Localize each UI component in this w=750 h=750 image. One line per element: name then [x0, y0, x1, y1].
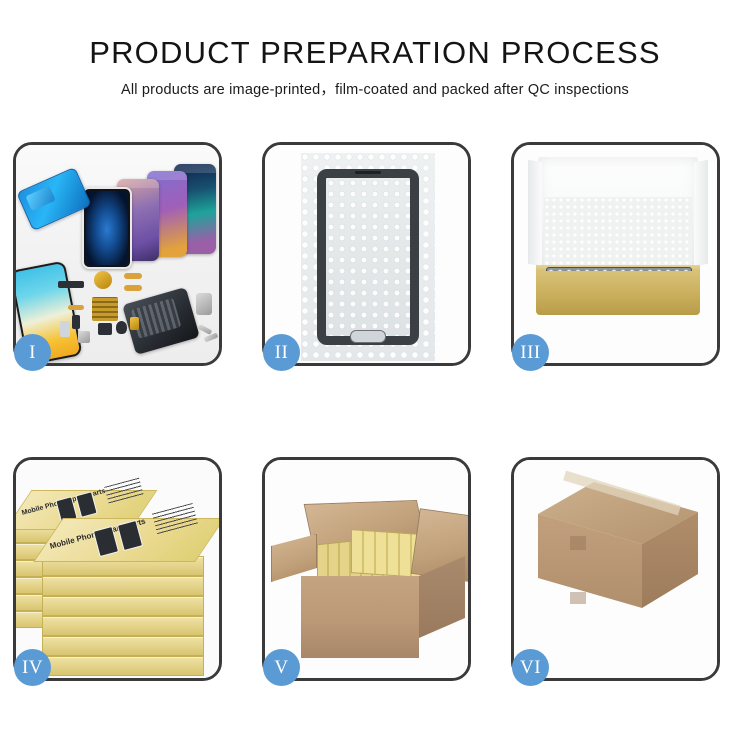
stacked-box-icon — [42, 576, 204, 596]
sim-tray-icon — [130, 317, 139, 330]
small-part-b-icon — [78, 331, 90, 343]
step-badge-1: I — [14, 334, 51, 371]
foam-pad-icon — [544, 197, 692, 273]
step-badge-6: VI — [512, 649, 549, 686]
carton-left-flap-icon — [271, 534, 317, 582]
screen-glass-icon — [317, 169, 419, 345]
bubble-wrap-illustration — [265, 145, 468, 363]
page-subtitle: All products are image-printed，film-coat… — [0, 81, 750, 99]
step-badge-3: III — [512, 334, 549, 371]
stacked-box-icon — [42, 636, 204, 656]
stacked-box-icon — [42, 616, 204, 636]
step-1-image — [16, 145, 219, 363]
step-badge-5: V — [263, 649, 300, 686]
kraft-box-base-icon — [536, 271, 700, 315]
page-header: PRODUCT PREPARATION PROCESS All products… — [0, 34, 750, 99]
carton-front-icon — [301, 576, 419, 658]
step-badge-4: IV — [14, 649, 51, 686]
stacked-boxes-illustration: Mobile Phone Spare Parts Mobile Phone Sp… — [16, 460, 219, 678]
camera-module-icon — [98, 323, 112, 335]
vibrator-icon — [116, 321, 127, 334]
carton-seam-bottom-icon — [570, 592, 586, 604]
product-preparation-page: PRODUCT PREPARATION PROCESS All products… — [0, 0, 750, 750]
step-5-image — [265, 460, 468, 678]
inner-box-illustration — [514, 145, 717, 363]
page-title: PRODUCT PREPARATION PROCESS — [0, 34, 750, 72]
step-3-image — [514, 145, 717, 363]
button-flex-icon — [68, 305, 84, 310]
process-step-panel-4: Mobile Phone Spare Parts Mobile Phone Sp… — [13, 457, 222, 681]
battery-part-icon — [60, 321, 70, 337]
process-step-panel-6: VI — [511, 457, 720, 681]
phone-back-cover-icon — [16, 167, 92, 231]
process-steps-grid: I II III — [13, 142, 737, 681]
step-2-image — [265, 145, 468, 363]
tool-icon — [196, 293, 212, 315]
small-part-a-icon — [72, 315, 80, 329]
stacked-box-icon — [42, 596, 204, 616]
tweezers-icon — [204, 333, 219, 343]
process-step-panel-3: III — [511, 142, 720, 366]
process-step-panel-5: V — [262, 457, 471, 681]
stacked-box-icon — [42, 656, 204, 676]
process-step-panel-2: II — [262, 142, 471, 366]
flex-cable-2-icon — [124, 285, 142, 291]
step-6-image — [514, 460, 717, 678]
open-carton-illustration — [265, 460, 468, 678]
sealed-carton-illustration — [514, 460, 717, 678]
flex-cable-icon — [124, 273, 142, 279]
carton-seam-top-icon — [570, 536, 586, 550]
screwdriver-icon — [198, 324, 213, 335]
screw-tray-icon — [92, 297, 118, 321]
speaker-part-icon — [94, 271, 112, 289]
process-step-panel-1: I — [13, 142, 222, 366]
step-4-image: Mobile Phone Spare Parts Mobile Phone Sp… — [16, 460, 219, 678]
connector-strip-icon — [58, 281, 84, 288]
step-badge-2: II — [263, 334, 300, 371]
phone-parts-illustration — [16, 145, 219, 363]
